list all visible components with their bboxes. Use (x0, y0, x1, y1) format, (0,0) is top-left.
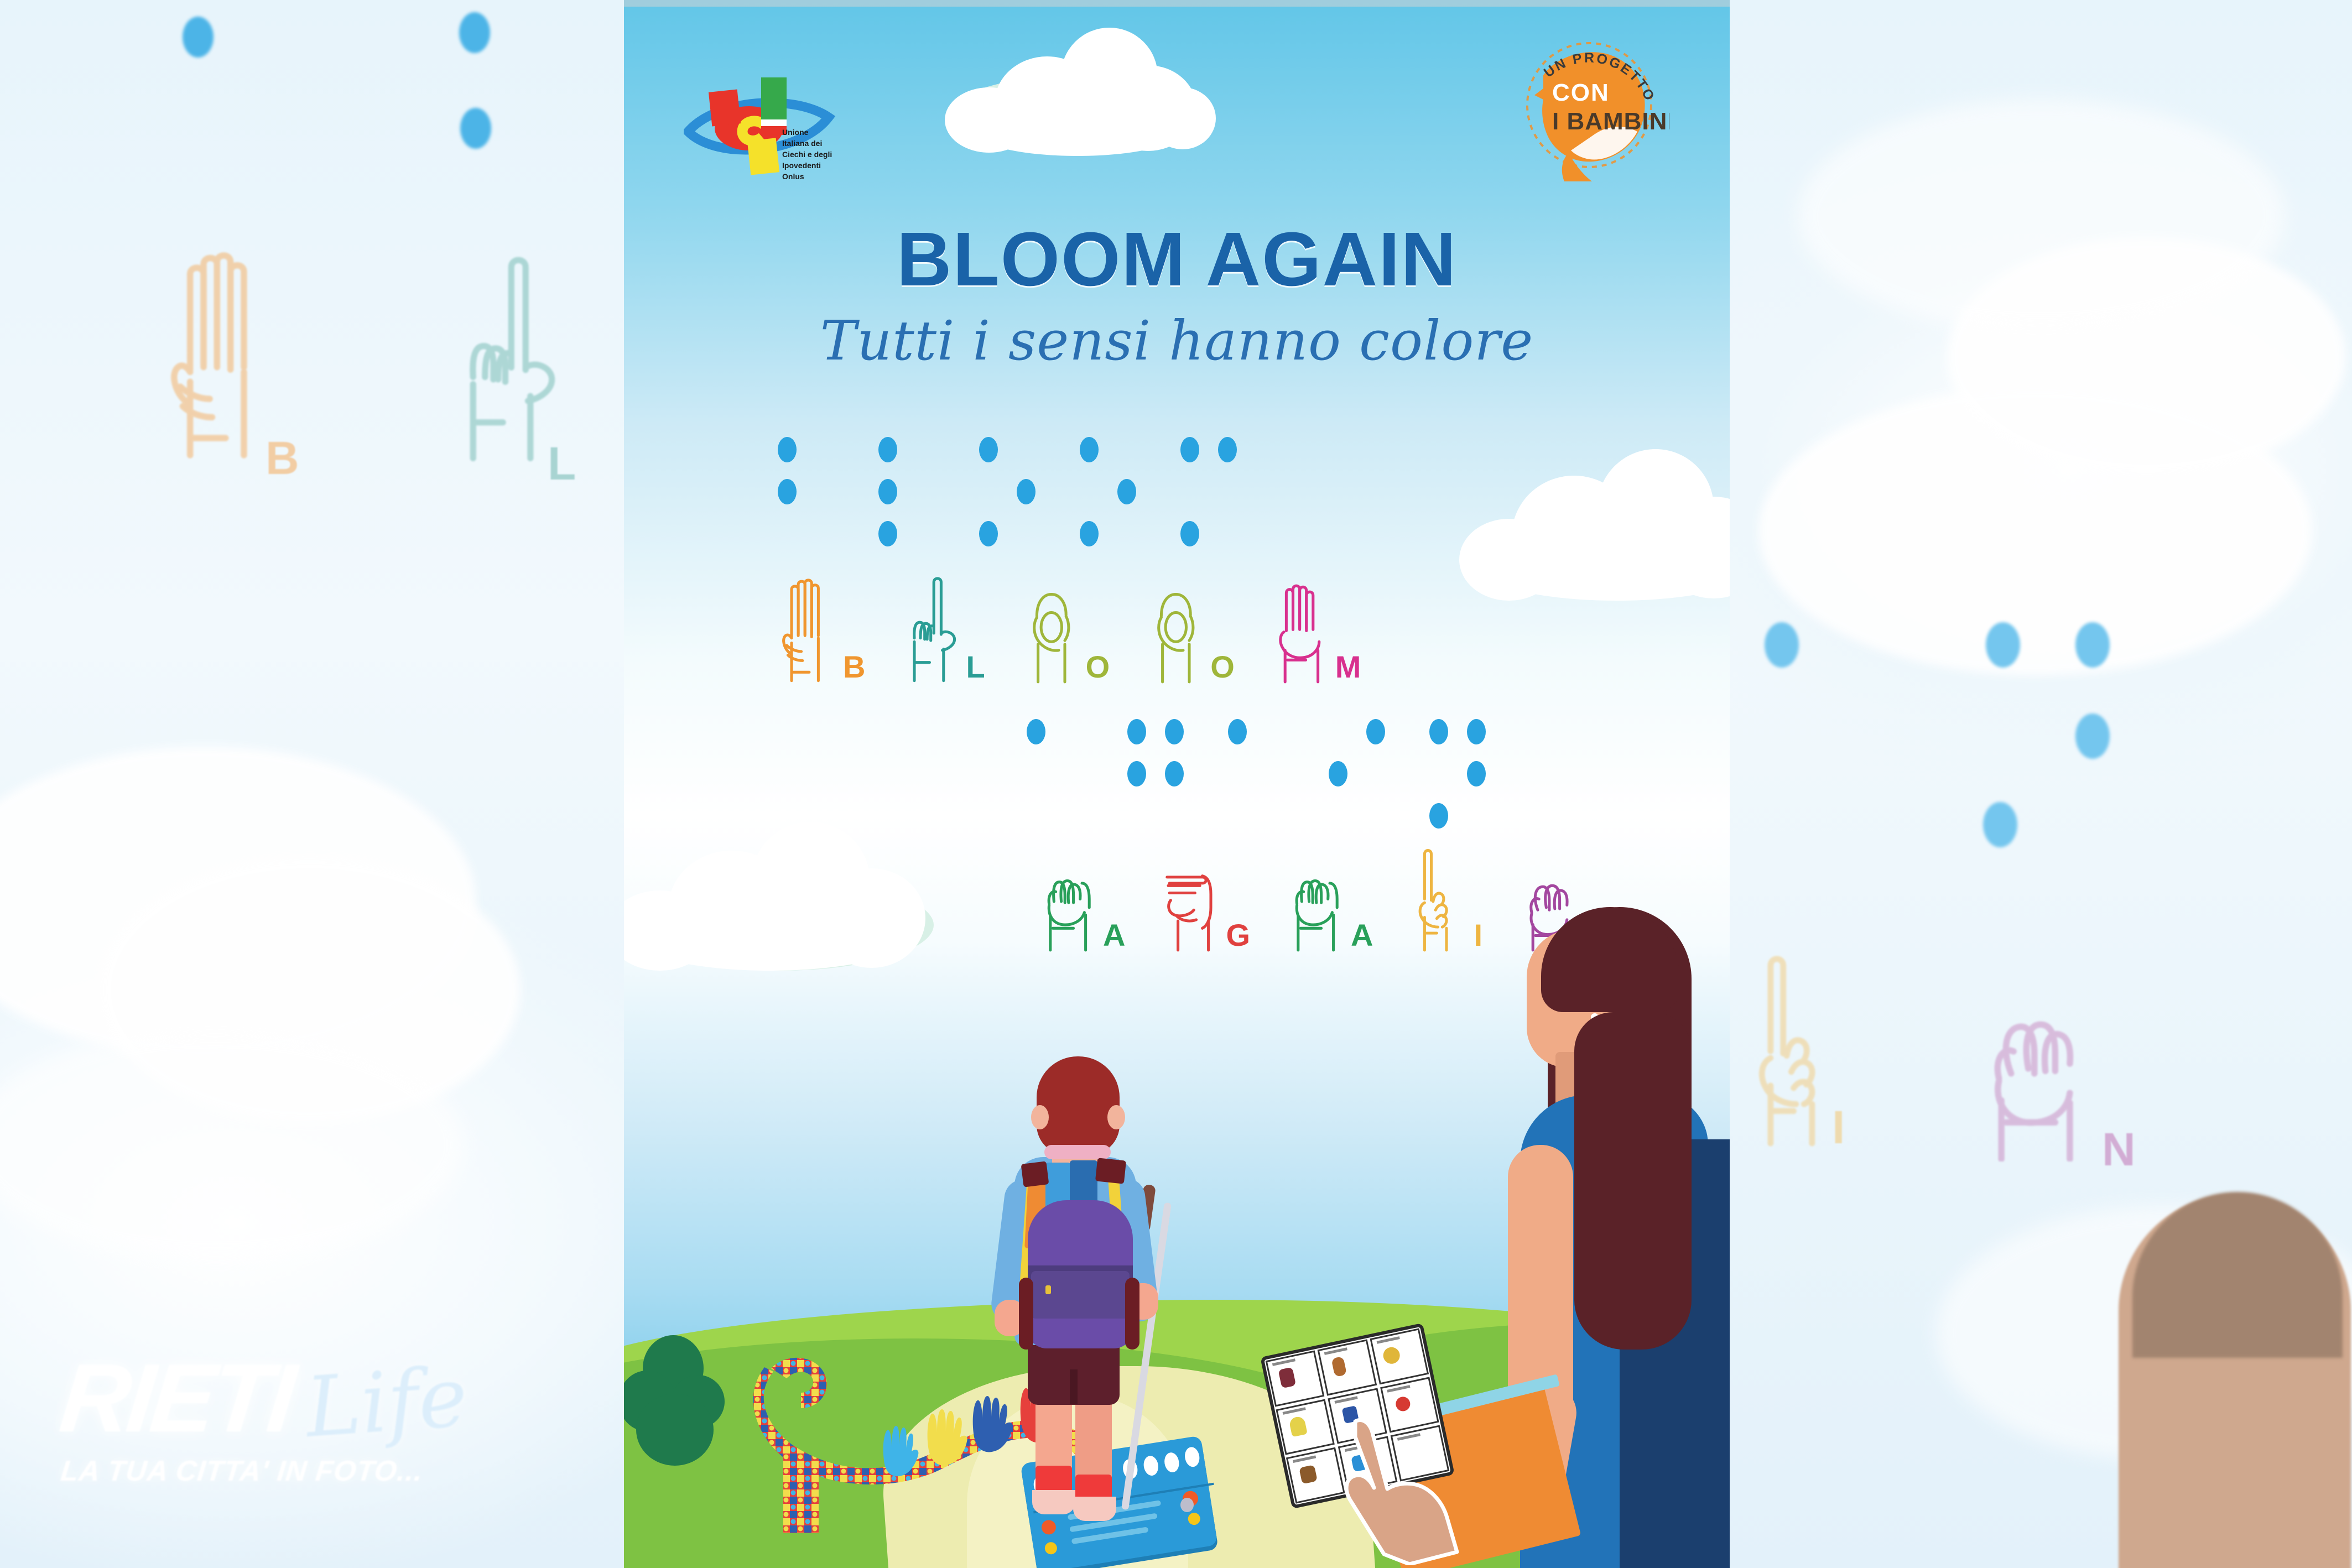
sign-letter: N (1583, 920, 1605, 951)
tree (624, 1327, 757, 1471)
pointing-hand-icon (1336, 1416, 1464, 1565)
background-cloud (0, 1029, 465, 1261)
cloud-left (624, 808, 956, 973)
sign-row-bloom: B L (773, 570, 1361, 686)
sign-letter: O (1086, 652, 1110, 683)
cane-tip (1180, 1498, 1194, 1512)
background-braille-dot (1765, 622, 1799, 668)
poster-image: Unione Italiana dei Ciechi e degli Ipove… (624, 0, 1730, 1568)
sign-letter: B (843, 652, 865, 683)
hill-right (1232, 1322, 1730, 1568)
background-braille-dot (2075, 713, 2110, 759)
logo-line: Onlus (782, 171, 847, 183)
cloud-top (934, 22, 1221, 155)
sign-hand-o: O (1016, 570, 1110, 686)
sign-hand-i: I (1404, 838, 1482, 954)
sign-row-again: A G (1033, 838, 1605, 954)
walking-path-highlight (967, 1394, 1188, 1568)
background-braille-dot (1986, 622, 2020, 668)
background-head-hair (2132, 1192, 2343, 1358)
autism-puzzle-ribbon (718, 1338, 1116, 1560)
background-cloud (0, 747, 476, 1056)
background-braille-dot (1983, 802, 2017, 847)
sign-hand-b: B (773, 570, 865, 686)
background-cloud (1759, 387, 2312, 675)
white-cane (1121, 1202, 1172, 1510)
poster-title: BLOOM AGAIN (624, 216, 1730, 304)
svg-text:CON: CON (1552, 79, 1610, 106)
svg-text:UN PROGETTO: UN PROGETTO (1541, 50, 1658, 105)
con-i-bambini-logo: UN PROGETTO CON I BAMBINI (1509, 22, 1669, 183)
background-sign-hand-l-icon (437, 243, 581, 470)
refreshable-braille-display (1020, 1435, 1217, 1568)
background-cloud (100, 857, 520, 1123)
background-head-silhouette (2119, 1195, 2351, 1568)
braille-cell-l (878, 437, 925, 548)
watermark-tagline: LA TUA CITTA' IN FOTO... (59, 1455, 605, 1488)
woman-with-folder (1509, 907, 1730, 1568)
braille-cell-n (1429, 719, 1476, 830)
svg-text:I BAMBINI: I BAMBINI (1552, 108, 1669, 135)
logo-line: Italiana dei (782, 138, 847, 149)
background-sign-letter-n: N (2102, 1123, 2136, 1176)
sign-hand-l: L (896, 570, 985, 686)
braille-cell-i (1329, 719, 1375, 830)
background-braille-dot (460, 108, 491, 149)
sign-hand-o: O (1141, 570, 1235, 686)
background-sign-hand-i-icon (1731, 935, 1870, 1156)
sign-letter: L (966, 652, 985, 683)
screenshot-root: B L (0, 0, 2352, 1568)
braille-cell-m (1180, 437, 1227, 548)
unione-italiana-ciechi-logo: Unione Italiana dei Ciechi e degli Ipove… (684, 72, 850, 177)
background-braille-dot (2075, 622, 2110, 668)
pecs-communication-board (1260, 1323, 1455, 1509)
logo-line: Ipovedenti (782, 160, 847, 171)
sign-letter: M (1335, 652, 1361, 683)
cloud-right (1459, 437, 1730, 603)
child-with-white-cane (961, 1040, 1216, 1568)
background-cloud (1936, 1206, 2352, 1460)
braille-cell-a (1027, 719, 1073, 830)
background-cloud (1947, 238, 2345, 476)
poster-top-band (624, 0, 1730, 7)
background-sign-letter-b: B (266, 431, 299, 485)
braille-cell-b (778, 437, 824, 548)
sign-hand-g: G (1156, 838, 1250, 954)
sign-letter: I (1474, 920, 1482, 951)
background-sign-hand-b-icon (152, 235, 301, 467)
braille-row-bloom (778, 437, 1227, 548)
sign-letter: A (1351, 920, 1373, 951)
walking-path (875, 1366, 1381, 1568)
braille-cell-a (1228, 719, 1274, 830)
sign-letter: A (1103, 920, 1125, 951)
sign-hand-a: A (1033, 838, 1125, 954)
logo-line: Unione (782, 127, 847, 138)
sign-letter: G (1226, 920, 1250, 951)
hill-far (624, 1300, 1730, 1568)
braille-row-again (1027, 719, 1476, 830)
hill-mid (624, 1338, 1365, 1568)
background-braille-dot (459, 12, 490, 53)
cane-grip (1137, 1184, 1156, 1233)
background-sign-letter-l: L (548, 437, 576, 491)
logo-line: Ciechi e degli (782, 149, 847, 160)
sign-letter: O (1210, 652, 1235, 683)
background-cloud (1798, 100, 2285, 332)
background-sign-hand-n-icon (1958, 929, 2113, 1161)
braille-cell-o (979, 437, 1026, 548)
sign-hand-a: A (1281, 838, 1373, 954)
background-braille-dot (183, 17, 214, 58)
background-sign-letter-i: I (1832, 1101, 1845, 1154)
watermark-script: Life (304, 1360, 470, 1446)
sign-hand-n: N (1513, 838, 1605, 954)
watermark-brand: RIETI (56, 1358, 296, 1440)
poster-subtitle: Tutti i sensi hanno colore (624, 310, 1730, 373)
braille-cell-g (1127, 719, 1174, 830)
watermark: RIETI Life LA TUA CITTA' IN FOTO... (61, 1358, 603, 1488)
sign-hand-m: M (1266, 570, 1361, 686)
braille-cell-o (1080, 437, 1126, 548)
